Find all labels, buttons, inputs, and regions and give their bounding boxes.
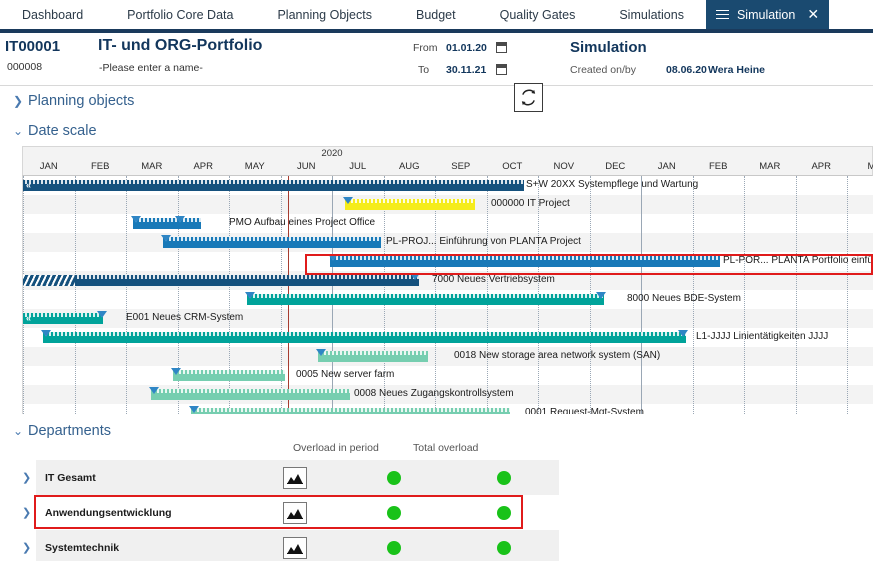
gantt-bar-label: L1-JJJJ Linientätigkeiten JJJJ [696,331,828,342]
gantt-bar-label: 0001 Request-Mgt-System [525,407,644,414]
gantt-bar-progress-dots [163,237,381,241]
status-badge-total-overload [497,506,511,520]
department-row[interactable]: ❯Anwendungsentwicklung [36,495,559,530]
tab-simulation-label: Simulation [737,8,795,22]
timeline-month-label: M. [847,161,873,172]
timeline-month-label: JAN [641,161,693,172]
gantt-milestone-marker[interactable] [678,330,688,337]
timeline-month-label: AUG [384,161,436,172]
created-by-user: Wera Heine [708,64,765,76]
portfolio-number: 000008 [7,61,42,73]
department-name: IT Gesamt [45,472,96,484]
tab-quality-gates[interactable]: Quality Gates [478,0,598,29]
main-tab-bar: Dashboard Portfolio Core Data Planning O… [0,0,873,33]
chevron-right-icon[interactable]: ❯ [22,541,31,554]
tab-planning-objects[interactable]: Planning Objects [255,0,394,29]
gantt-gridline [126,176,127,414]
section-departments-label: Departments [28,423,111,439]
tab-simulations[interactable]: Simulations [597,0,706,29]
bar-chart-icon [287,542,303,554]
department-name: Anwendungsentwicklung [45,507,172,519]
chevron-right-icon[interactable]: ❯ [8,94,28,108]
gantt-bar-label: 0018 New storage area network system (SA… [454,350,660,361]
timeline-month-label: NOV [538,161,590,172]
timeline-month-label: OCT [487,161,539,172]
gantt-bar-progress-dots [318,351,428,355]
gantt-milestone-marker[interactable] [161,235,171,242]
gantt-milestone-marker[interactable] [97,311,107,318]
gantt-milestone-marker[interactable] [328,254,338,261]
page-title: IT- und ORG-Portfolio [98,37,262,55]
gantt-bar-hatched-segment [23,275,75,286]
gantt-bar-label: PL-PROJ... Einführung von PLANTA Project [386,236,581,247]
refresh-icon [519,88,538,107]
gantt-milestone-marker[interactable] [596,292,606,299]
gantt-bar[interactable] [133,218,201,229]
gantt-gridline [796,176,797,414]
gantt-gridline [23,176,24,414]
calendar-icon[interactable] [496,42,507,53]
gantt-bar[interactable] [173,370,285,381]
gantt-bar[interactable] [330,256,720,267]
simulation-title: Simulation [570,39,647,56]
gantt-bar-progress-dots [151,389,350,393]
to-label: To [418,64,429,76]
timeline-month-label: MAR [744,161,796,172]
gantt-rows-container[interactable]: «S+W 20XX Systempflege und Wartung000000… [22,176,873,414]
scroll-left-icon[interactable]: « [26,313,31,324]
gantt-bar-label: PL-POR... PLANTA Portfolio einführen [723,255,873,266]
gantt-milestone-marker[interactable] [189,406,199,413]
timeline-month-label: APR [178,161,230,172]
gantt-bar-label: E001 Neues CRM-System [126,312,243,323]
gantt-row[interactable] [23,366,873,385]
calendar-icon[interactable] [496,64,507,75]
chevron-right-icon[interactable]: ❯ [22,506,31,519]
gantt-gridline [847,176,848,414]
gantt-bar-progress-dots [330,256,720,260]
gantt-milestone-marker[interactable] [175,216,185,223]
col-overload-in-period: Overload in period [293,442,379,454]
gantt-bar[interactable] [23,313,103,324]
refresh-button[interactable] [514,83,543,112]
chevron-down-icon[interactable]: ⌄ [8,424,28,438]
portfolio-name-input[interactable]: -Please enter a name- [99,62,203,74]
col-total-overload: Total overload [413,442,478,454]
status-badge-overload-in-period [387,471,401,485]
gantt-bar-progress-dots [345,199,475,203]
created-date: 08.06.20 [666,64,707,76]
from-date-field[interactable]: 01.01.20 [446,42,487,54]
timeline-month-label: FEB [75,161,127,172]
gantt-bar[interactable] [23,180,524,191]
section-planning-objects-label: Planning objects [28,93,134,109]
gantt-milestone-marker[interactable] [41,330,51,337]
departments-list: ❯IT Gesamt❯Anwendungsentwicklung❯Systemt… [0,460,873,561]
gantt-milestone-marker[interactable] [343,197,353,204]
gantt-timeline-header: 2020JANFEBMARAPRMAYJUNJULAUGSEPOCTNOVDEC… [22,146,873,176]
status-badge-overload-in-period [387,541,401,555]
timeline-month-label: APR [796,161,848,172]
section-date-scale[interactable]: ⌄ Date scale [0,116,873,146]
gantt-bar-label: 7000 Neues Vertriebsystem [432,274,555,285]
gantt-bar[interactable] [151,389,350,400]
gantt-bar-progress-dots [247,294,604,298]
portfolio-header: IT00001 000008 IT- und ORG-Portfolio -Pl… [0,33,873,86]
close-icon[interactable]: ✕ [803,6,819,23]
gantt-bar-progress-dots [43,332,686,336]
hamburger-menu-icon[interactable] [716,10,729,20]
gantt-bar[interactable] [43,332,686,343]
timeline-month-label: JAN [23,161,75,172]
gantt-milestone-marker[interactable] [171,368,181,375]
scroll-left-icon[interactable]: « [26,180,31,191]
status-badge-total-overload [497,471,511,485]
gantt-bar-progress-dots [23,180,524,184]
histogram-chart-button[interactable] [283,467,307,489]
gantt-bar-label: PMO Aufbau eines Project Office [229,217,375,228]
gantt-bar[interactable] [75,275,419,286]
timeline-year-label: 2020 [281,148,384,159]
portfolio-id: IT00001 [5,38,60,55]
gantt-milestone-marker[interactable] [245,292,255,299]
timeline-month-label: DEC [590,161,642,172]
to-date-field[interactable]: 30.11.21 [446,64,486,76]
gantt-bar-label: 0008 Neues Zugangskontrollsystem [354,388,514,399]
tab-simulation[interactable]: Simulation ✕ [706,0,829,29]
timeline-month-label: SEP [435,161,487,172]
gantt-milestone-marker[interactable] [410,273,420,280]
gantt-left-rail [0,176,22,414]
gantt-bar-label: 8000 Neues BDE-System [627,293,741,304]
department-row[interactable]: ❯Systemtechnik [36,530,559,561]
gantt-bar-label: 000000 IT Project [491,198,570,209]
histogram-chart-button[interactable] [283,502,307,524]
gantt-row[interactable] [23,347,873,366]
chevron-right-icon[interactable]: ❯ [22,471,31,484]
status-badge-total-overload [497,541,511,555]
gantt-bar-label: 0005 New server farm [296,369,394,380]
department-row[interactable]: ❯IT Gesamt [36,460,559,495]
timeline-month-label: JUN [281,161,333,172]
bar-chart-icon [287,472,303,484]
from-label: From [413,42,438,54]
tab-portfolio-core-data[interactable]: Portfolio Core Data [105,0,255,29]
histogram-chart-button[interactable] [283,537,307,559]
gantt-milestone-marker[interactable] [149,387,159,394]
department-name: Systemtechnik [45,542,119,554]
gantt-bar-progress-dots [173,370,285,374]
timeline-month-label: MAR [126,161,178,172]
status-badge-overload-in-period [387,506,401,520]
timeline-month-label: JUL [332,161,384,172]
gantt-bar-progress-dots [75,275,419,279]
gantt-bar[interactable] [247,294,604,305]
gantt-bar[interactable] [318,351,428,362]
bar-chart-icon [287,507,303,519]
created-label: Created on/by [570,64,636,76]
chevron-down-icon[interactable]: ⌄ [8,124,28,138]
gantt-chart: 2020JANFEBMARAPRMAYJUNJULAUGSEPOCTNOVDEC… [0,146,873,414]
gantt-bar-progress-dots [23,313,103,317]
gantt-bar-label: S+W 20XX Systempflege und Wartung [526,179,698,190]
departments-column-headers: Overload in period Total overload [0,446,873,460]
gantt-bar[interactable] [345,199,475,210]
gantt-gridline [75,176,76,414]
tab-budget[interactable]: Budget [394,0,478,29]
gantt-milestone-marker[interactable] [316,349,326,356]
gantt-bar-progress-dots [133,218,201,222]
timeline-month-label: FEB [693,161,745,172]
gantt-bar-progress-dots [191,408,510,412]
timeline-month-label: MAY [229,161,281,172]
gantt-milestone-marker[interactable] [131,216,141,223]
section-date-scale-label: Date scale [28,123,97,139]
tab-dashboard[interactable]: Dashboard [0,0,105,29]
gantt-bar[interactable] [191,408,510,414]
gantt-bar[interactable] [163,237,381,248]
gantt-gridline [744,176,745,414]
section-planning-objects[interactable]: ❯ Planning objects [0,86,873,116]
